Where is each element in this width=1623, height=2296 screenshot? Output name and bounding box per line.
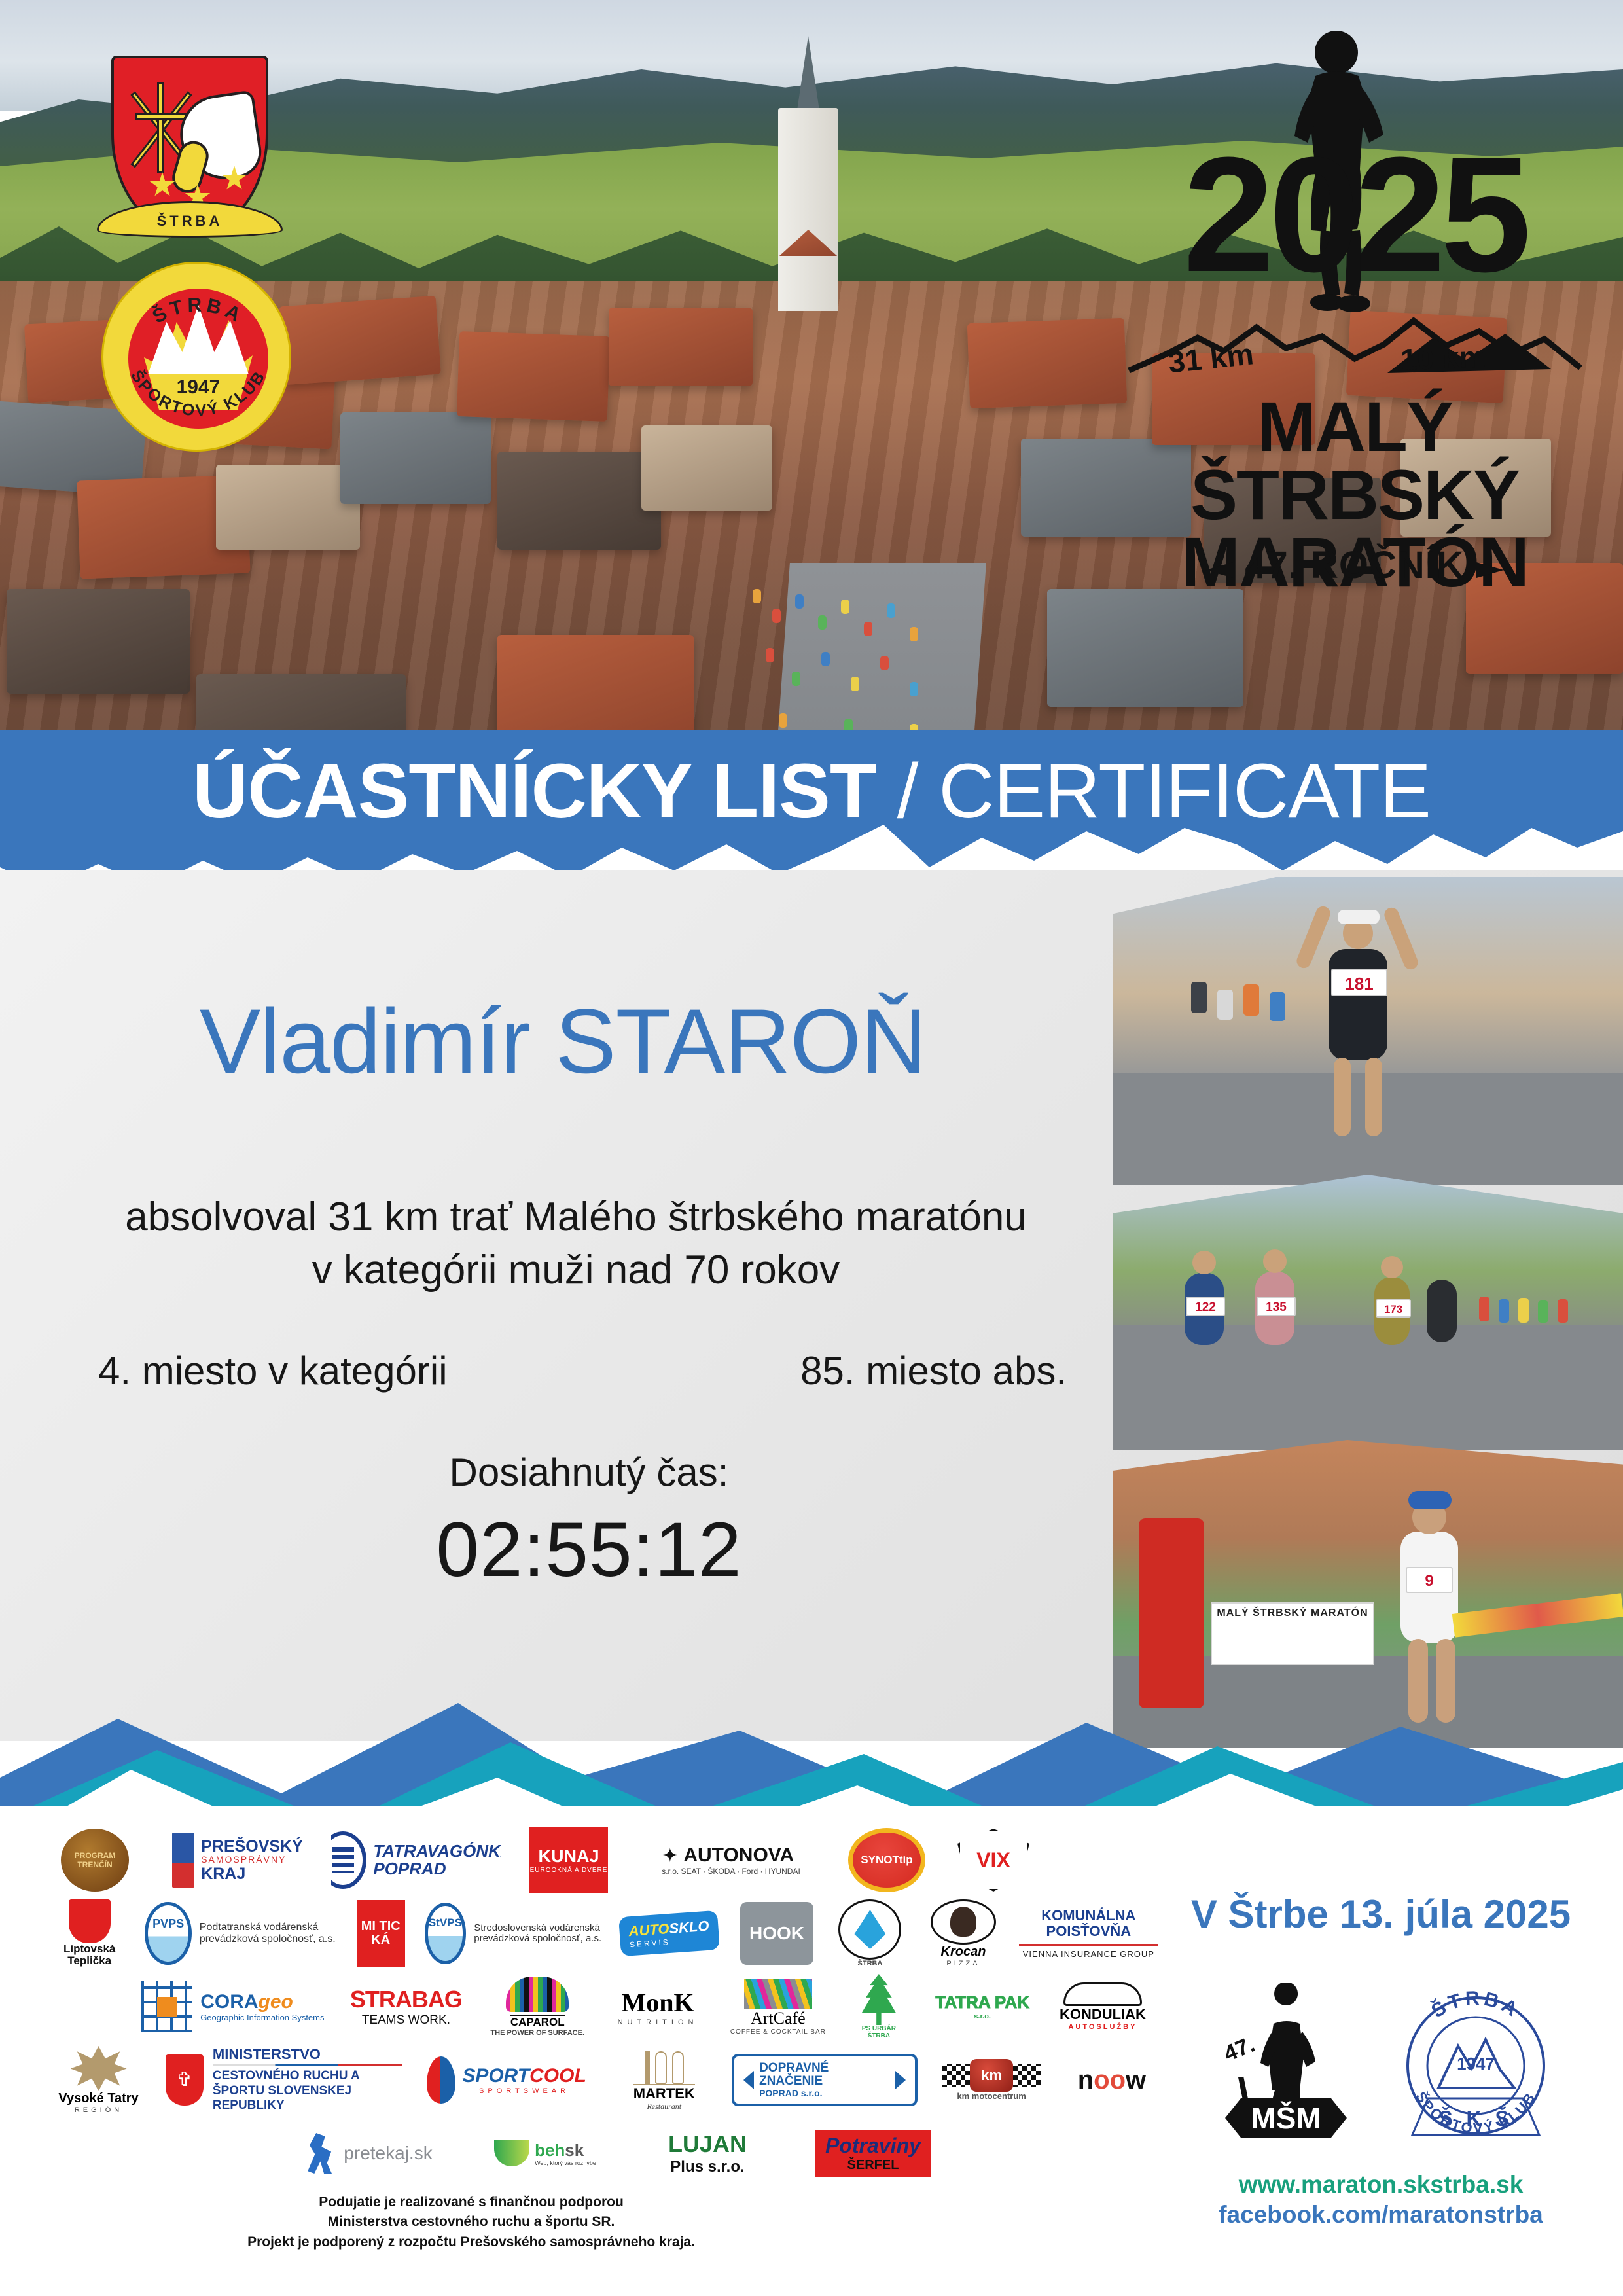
sponsor-row: Vysoké Tatry REGIÓN ✞ MINISTERSTVO CESTO…: [46, 2046, 1158, 2114]
edition-tick-right-icon: [1476, 562, 1504, 578]
sponsor-label: MI TIC KÁ: [357, 1900, 405, 1967]
msm-stamp-icon: 47. MŠM: [1204, 1983, 1368, 2147]
sponsor-logo-kunaj[interactable]: KUNAJ EUROOKNÁ A DVERE: [513, 1826, 624, 1894]
sponsor-label: KONDULIAK: [1060, 2006, 1146, 2023]
funding-note-line-1: Podujatie je realizované s finančnou pod…: [85, 2193, 857, 2212]
sponsor-label: STRABAG: [350, 1986, 462, 2013]
sponsor-label: TATRA PAK: [935, 1992, 1029, 2013]
participant-name: Vladimír STAROŇ: [0, 988, 1126, 1094]
sponsor-logo-autonova[interactable]: ✦ AUTONOVA s.r.o. SEAT · ŠKODA · Ford · …: [636, 1826, 826, 1894]
sponsor-sublabel: REGIÓN: [75, 2106, 122, 2114]
event-year: 2025: [1119, 144, 1590, 285]
sponsor-sublabel: COFFEE & COCKTAIL BAR: [730, 2028, 826, 2036]
sponsor-sublabel: Teplička: [67, 1954, 111, 1967]
sponsor-sublabel: THE POWER OF SURFACE.: [490, 2029, 584, 2037]
svg-text:Š K Š: Š K Š: [1438, 2107, 1513, 2130]
svg-text:ŠPORTOVÝ KLUB: ŠPORTOVÝ KLUB: [127, 367, 269, 420]
sponsor-logo-krocan-pizza[interactable]: Krocan PIZZA: [919, 1899, 1007, 1967]
sponsor-logo-hook[interactable]: HOOK: [733, 1899, 820, 1967]
coat-of-arms-banner: ŠTRBA: [97, 201, 283, 238]
sponsor-sublabel: s.r.o. SEAT · ŠKODA · Ford · HYUNDAI: [662, 1867, 800, 1876]
sponsor-sublabel: Stredoslovenská vodárenská prevádzková s…: [474, 1923, 605, 1945]
race-photo-collage: 181 122 135 173 9 MALÝ ŠTRBSKÝ MARATÓN: [1113, 877, 1623, 1748]
sponsor-label: Vysoké Tatry: [58, 2091, 138, 2106]
sponsor-logo-km-motocentrum[interactable]: km km motocentrum: [929, 2046, 1054, 2114]
sponsor-sublabel: Restaurant: [647, 2102, 681, 2111]
photo-hill-runners: 122 135 173: [1113, 1175, 1623, 1450]
bib-number: 122: [1186, 1297, 1225, 1316]
marathon-branding: 2025 31 km 10 km MALÝ ŠTRBSKÝ MARATÓN 47…: [1119, 26, 1590, 602]
sponsor-row: CORAgeo Geographic Information Systems S…: [46, 1973, 1158, 2041]
contact-urls: www.maraton.skstrba.sk facebook.com/mara…: [1152, 2170, 1610, 2231]
sponsor-sublabel: Plus s.r.o.: [670, 2158, 744, 2176]
church-building: [769, 36, 847, 311]
sponsor-logo-ministerstvo[interactable]: ✞ MINISTERSTVO CESTOVNÉHO RUCHU A ŠPORTU…: [163, 2046, 405, 2114]
sponsor-sublabel: Podtatranská vodárenská prevádzková spol…: [200, 1922, 337, 1945]
sponsor-label: PS URBÁR: [862, 2025, 896, 2032]
sponsor-logo-caparol[interactable]: CAPAROL THE POWER OF SURFACE.: [488, 1973, 588, 2041]
sponsor-row: PROGRAM TRENČÍN PREŠOVSKÝ SAMOSPRÁVNY KR…: [46, 1826, 1158, 1894]
sponsor-label: TATRAVAGÓNKA: [373, 1842, 501, 1860]
title-english: CERTIFICATE: [938, 748, 1431, 834]
finish-time-label: Dosiahnutý čas:: [0, 1450, 1178, 1495]
sponsor-logo-liptovska-teplicka[interactable]: Liptovská Teplička: [46, 1899, 133, 1967]
sponsor-sublabel: POPRAD s.r.o.: [759, 2088, 890, 2098]
sponsor-sublabel: Web, ktorý vás rozhýbe: [535, 2161, 596, 2167]
achievement-description: absolvoval 31 km trať Malého štrbského m…: [0, 1191, 1152, 1297]
sponsor-label: PREŠOVSKÝ: [201, 1838, 303, 1855]
sponsor-label: HOOK: [749, 1923, 804, 1944]
sks-stamp-icon: ŠTRBA ŠPORTOVÝ KLUB 1947 Š K Š: [1394, 1983, 1558, 2147]
bib-number: 9: [1406, 1567, 1453, 1593]
sponsor-label: PROGRAM TRENČÍN: [61, 1851, 129, 1870]
sponsor-logo-autosklo[interactable]: AUTOSKLO SERVIS: [616, 1899, 721, 1967]
hero-photo-banner: ŠTART: [0, 0, 1623, 785]
sponsor-logo-pvps[interactable]: PVPS Podtatranská vodárenská prevádzková…: [145, 1899, 336, 1967]
sponsor-logo-artcafe[interactable]: ArtCafé COFFEE & COCKTAIL BAR: [728, 1973, 828, 2041]
sponsor-label: SYNOTtip: [861, 1854, 912, 1867]
absolute-place: 85. miesto abs.: [800, 1348, 1067, 1393]
sponsor-sublabel: POPRAD: [373, 1860, 501, 1878]
category-place: 4. miesto v kategórii: [98, 1348, 448, 1393]
funding-note-line-3: Projekt je podporený z rozpočtu Prešovsk…: [85, 2233, 857, 2252]
sponsor-logo-strabag[interactable]: STRABAG TEAMS WORK.: [336, 1973, 476, 2041]
distance-short-label: 10 km: [1400, 339, 1486, 378]
sponsor-label: MonK: [621, 1987, 694, 2018]
sponsor-spacer: [46, 1973, 130, 2041]
strba-coat-of-arms: ŠTRBA: [111, 56, 268, 245]
svg-text:1947: 1947: [1457, 2054, 1495, 2073]
description-line-2: v kategórii muži nad 70 rokov: [0, 1244, 1152, 1297]
sponsor-label: pretekaj.sk: [344, 2143, 432, 2164]
sponsor-label: AUTONOVA: [683, 1844, 794, 1867]
sponsor-label: KUNAJ: [538, 1846, 599, 1867]
official-stamps: 47. MŠM ŠTRBA ŠPORTOVÝ KLUB 1947 Š K Š: [1178, 1983, 1597, 2153]
sponsor-sublabel: AUTOSLUŽBY: [1068, 2023, 1137, 2031]
funding-note: Podujatie je realizované s finančnou pod…: [85, 2193, 857, 2252]
event-title-line1: MALÝ ŠTRBSKÝ: [1119, 393, 1590, 528]
sponsor-logo-lujan[interactable]: LUJAN Plus s.r.o.: [639, 2119, 776, 2187]
sponsor-row: Liptovská Teplička PVPS Podtatranská vod…: [46, 1899, 1158, 1967]
bib-number: 173: [1376, 1299, 1411, 1318]
sponsor-label: DOPRAVNÉ ZNAČENIE: [759, 2062, 890, 2088]
sponsor-logo-pretekaj[interactable]: pretekaj.sk: [288, 2119, 452, 2187]
sponsor-logo-vysoke-tatry[interactable]: Vysoké Tatry REGIÓN: [46, 2046, 151, 2114]
finish-banner-text: MALÝ ŠTRBSKÝ MARATÓN: [1211, 1602, 1374, 1665]
sponsor-logo-miticka[interactable]: MI TIC KÁ: [349, 1899, 413, 1967]
sponsor-sublabel: ŠTRBA: [868, 2032, 890, 2039]
sponsor-label: VIX: [976, 1848, 1010, 1873]
certificate-title: ÚČASTNÍCKY LIST / CERTIFICATE: [0, 753, 1623, 830]
svg-text:MŠM: MŠM: [1251, 2101, 1321, 2135]
place-and-date: V Štrbe 13. júla 2025: [1171, 1892, 1590, 1937]
sponsor-row: pretekaj.sk behsk Web, ktorý vás rozhýbe…: [288, 2119, 1158, 2187]
sponsor-label: StVPS: [429, 1916, 462, 1929]
sponsor-label: LUJAN: [668, 2130, 747, 2158]
sponsor-logo-konduliak[interactable]: KONDULIAK AUTOSLUŽBY: [1047, 1973, 1158, 2041]
sponsor-sublabel: CESTOVNÉHO RUCHU A ŠPORTU SLOVENSKEJ REP…: [213, 2069, 402, 2113]
description-line-1: absolvoval 31 km trať Malého štrbského m…: [0, 1191, 1152, 1244]
title-separator: /: [876, 748, 938, 834]
sponsor-sublabel: TEAMS WORK.: [350, 2013, 462, 2028]
placement-row: 4. miesto v kategórii 85. miesto abs.: [0, 1348, 1165, 1393]
sponsor-grid: PROGRAM TRENČÍN PREŠOVSKÝ SAMOSPRÁVNY KR…: [46, 1826, 1158, 2193]
svg-text:47.: 47.: [1221, 2032, 1258, 2066]
sponsor-label: MINISTERSTVO: [213, 2047, 402, 2062]
title-slovak: ÚČASTNÍCKY LIST: [192, 748, 876, 834]
sponsor-logo-vix[interactable]: VIX: [948, 1826, 1039, 1894]
sponsor-label: Liptovská: [63, 1943, 115, 1955]
sponsor-logo-monk[interactable]: MonK NUTRITION: [599, 1973, 717, 2041]
finish-tape: [1452, 1593, 1623, 1637]
sponsor-footer: PROGRAM TRENČÍN PREŠOVSKÝ SAMOSPRÁVNY KR…: [0, 1806, 1623, 2296]
sponsor-label: km motocentrum: [957, 2092, 1026, 2101]
sponsor-logo-corageo[interactable]: CORAgeo Geographic Information Systems: [141, 1973, 325, 2041]
sponsor-label: MARTEK: [633, 2084, 695, 2102]
sponsor-logo-komunalna-poistovna[interactable]: KOMUNÁLNA POISŤOVŇA VIENNA INSURANCE GRO…: [1019, 1899, 1158, 1967]
sponsor-logo-noow[interactable]: noow: [1065, 2046, 1158, 2114]
website-url[interactable]: www.maraton.skstrba.sk: [1152, 2170, 1610, 2200]
sponsor-logo-dopravne-znacenie[interactable]: DOPRAVNÉ ZNAČENIE POPRAD s.r.o.: [732, 2046, 918, 2114]
sponsor-sublabel: VIENNA INSURANCE GROUP: [1019, 1950, 1158, 1959]
sponsor-logo-martek[interactable]: MARTEK Restaurant: [608, 2046, 720, 2114]
sponsor-label: Krocan: [941, 1945, 986, 1960]
edition-label: 47. ROČNÍK: [1245, 544, 1465, 586]
svg-text:ŠTRBA: ŠTRBA: [149, 295, 247, 328]
sponsor-sublabel: Geographic Information Systems: [200, 2013, 324, 2022]
sponsor-logo-presovsky-kraj[interactable]: PREŠOVSKÝ SAMOSPRÁVNY KRAJ: [156, 1826, 319, 1894]
sponsor-label: CAPAROL: [510, 2015, 565, 2029]
sponsor-logo-tatravagonka[interactable]: TATRAVAGÓNKA POPRAD: [331, 1826, 501, 1894]
sponsor-logo-sportcool[interactable]: SPORTCOOL SPORTSWEAR: [417, 2046, 597, 2114]
sponsor-logo-ps-urbar[interactable]: PS URBÁR ŠTRBA: [840, 1973, 918, 2041]
sponsor-sublabel: ŠTRBA: [858, 1960, 883, 1967]
bib-number: 135: [1257, 1297, 1296, 1316]
sponsor-sublabel: EUROOKNÁ A DVERE: [530, 1867, 608, 1874]
sponsor-logo-pd-strba[interactable]: ŠTRBA: [832, 1899, 908, 1967]
event-edition: 47. ROČNÍK: [1119, 543, 1590, 587]
sponsor-sublabel: NUTRITION: [618, 2018, 698, 2026]
edition-tick-left-icon: [1205, 562, 1233, 578]
sponsor-logo-potraviny-serfel[interactable]: Potraviny ŠERFEL: [788, 2119, 958, 2187]
photo-finish-celebration: 181: [1113, 877, 1623, 1185]
sponsor-logo-tatrapak[interactable]: TATRA PAK s.r.o.: [929, 1973, 1035, 2041]
sponsor-logo-program-trencin[interactable]: PROGRAM TRENČÍN: [46, 1826, 144, 1894]
sponsor-sublabel: s.r.o.: [974, 2013, 991, 2020]
sponsor-logo-synottip[interactable]: SYNOTtip: [838, 1826, 936, 1894]
sponsor-label: PVPS: [152, 1917, 184, 1931]
club-logo-arc-text: ŠTRBA ŠPORTOVÝ KLUB: [103, 264, 293, 454]
sponsor-label: Potraviny: [825, 2134, 921, 2158]
funding-note-line-2: Ministerstva cestovného ruchu a športu S…: [85, 2212, 857, 2232]
sponsor-logo-stvps[interactable]: StVPS Stredoslovenská vodárenská prevádz…: [425, 1899, 605, 1967]
sks-club-logo: 1947 ŠTRBA ŠPORTOVÝ KLUB: [101, 262, 291, 452]
sponsor-label: KOMUNÁLNA POISŤOVŇA: [1019, 1908, 1158, 1939]
sponsor-sublabel: SPORTSWEAR: [462, 2087, 586, 2095]
village-name-label: ŠTRBA: [157, 213, 223, 230]
sponsor-logo-behsk[interactable]: behsk Web, ktorý vás rozhýbe: [463, 2119, 627, 2187]
bib-number: 181: [1331, 969, 1387, 996]
sponsor-label: ArtCafé: [751, 2009, 806, 2028]
facebook-url[interactable]: facebook.com/maratonstrba: [1152, 2200, 1610, 2230]
finish-time-value: 02:55:12: [0, 1505, 1178, 1594]
sponsor-sublabel: PIZZA: [946, 1960, 980, 1967]
sponsor-sublabel: ŠERFEL: [825, 2158, 921, 2173]
